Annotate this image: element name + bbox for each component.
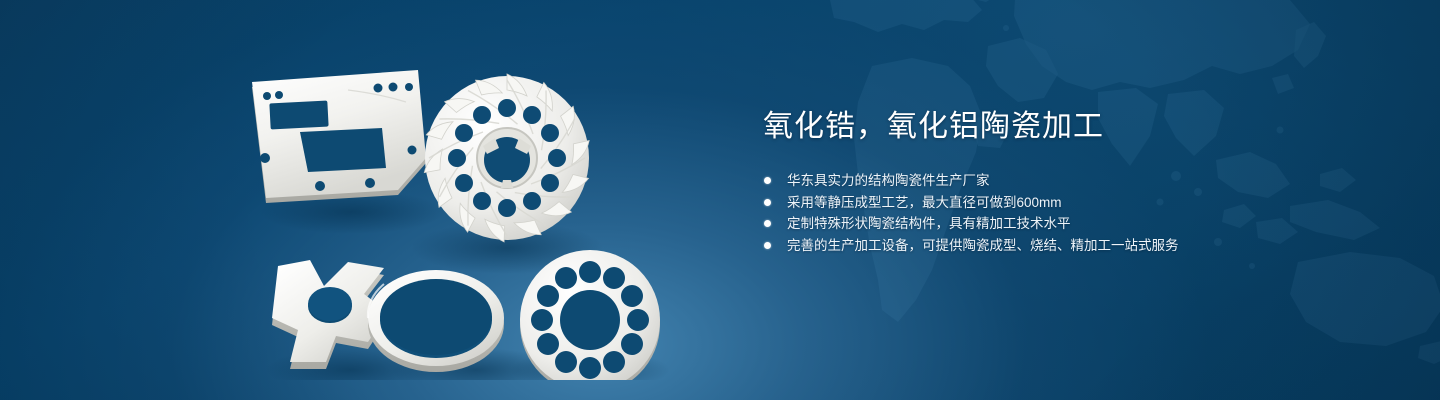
ceramic-plate-shape [252,70,426,203]
feature-text: 完善的生产加工设备，可提供陶瓷成型、烧结、精加工一站式服务 [787,238,1179,253]
feature-list-item: 采用等静压成型工艺，最大直径可做到600mm [763,192,1363,214]
feature-list-item: 定制特殊形状陶瓷结构件，具有精加工技术水平 [763,213,1363,235]
bullet-dot-icon [764,220,771,227]
feature-text: 采用等静压成型工艺，最大直径可做到600mm [787,195,1062,210]
ceramic-impeller-shape [421,73,594,243]
banner-copy-block: 氧化锆，氧化铝陶瓷加工 华东具实力的结构陶瓷件生产厂家 采用等静压成型工艺，最大… [763,108,1363,256]
bullet-dot-icon [764,242,771,249]
feature-list-item: 华东具实力的结构陶瓷件生产厂家 [763,170,1363,192]
banner-feature-list: 华东具实力的结构陶瓷件生产厂家 采用等静压成型工艺，最大直径可做到600mm 定… [763,170,1363,256]
ceramic-ring-shape [368,270,504,372]
feature-text: 定制特殊形状陶瓷结构件，具有精加工技术水平 [787,216,1071,231]
bullet-dot-icon [764,177,771,184]
banner-headline: 氧化锆，氧化铝陶瓷加工 [763,108,1363,146]
ceramic-product-banner: 氧化锆，氧化铝陶瓷加工 华东具实力的结构陶瓷件生产厂家 采用等静压成型工艺，最大… [0,0,1440,400]
ceramic-products-image [230,40,700,380]
feature-list-item: 完善的生产加工设备，可提供陶瓷成型、烧结、精加工一站式服务 [763,235,1363,257]
bullet-dot-icon [764,199,771,206]
feature-text: 华东具实力的结构陶瓷件生产厂家 [787,173,990,188]
